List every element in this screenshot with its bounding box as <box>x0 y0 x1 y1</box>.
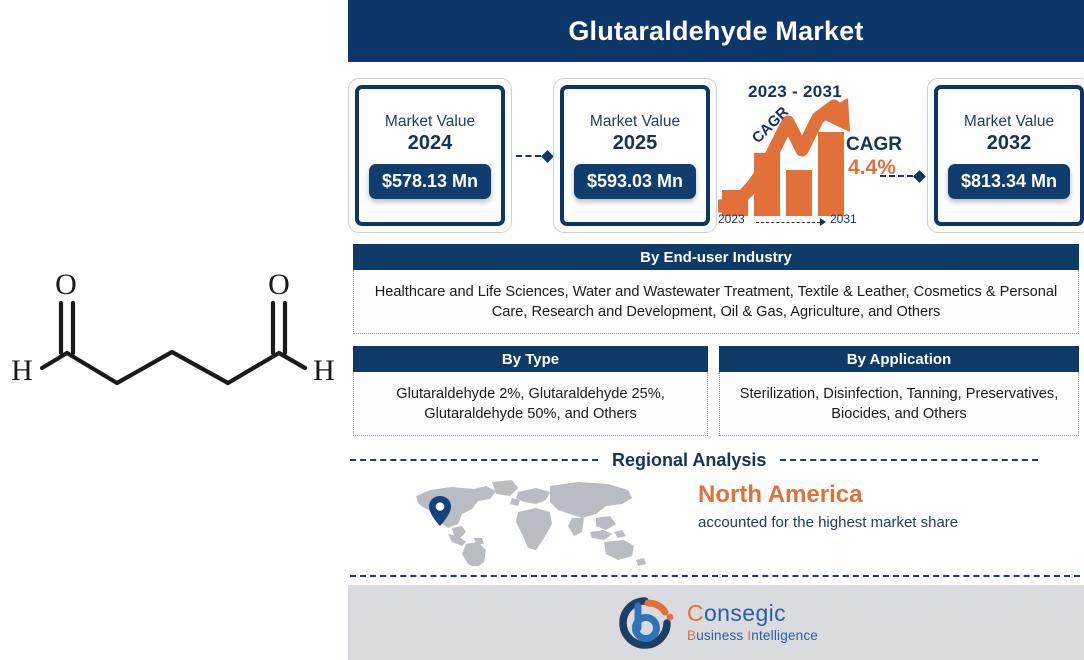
segment-end-user-industry: By End-user Industry Healthcare and Life… <box>353 244 1079 334</box>
consegic-logo-icon <box>614 595 676 651</box>
regional-analysis-header: Regional Analysis <box>348 448 1084 472</box>
divider-left <box>350 459 598 461</box>
cagr-word-label: CAGR <box>846 134 902 156</box>
leading-region-name: North America <box>698 480 1028 510</box>
kpi-year-2024: 2024 <box>408 131 453 155</box>
brand-name: Consegic <box>687 602 818 625</box>
molecule-pane: O O H H <box>0 0 348 660</box>
segment-title-by-application: By Application <box>719 346 1079 372</box>
kpi-card-2032: Market Value 2032 $813.34 Mn <box>927 78 1084 233</box>
cagr-axis-arrow-icon <box>756 218 826 226</box>
kpi-label-2032: Market Value <box>964 112 1054 131</box>
segment-by-type: By Type Glutaraldehyde 2%, Glutaraldehyd… <box>353 346 708 436</box>
infographic-page: O O H H Glutaraldehyde Market Market Val… <box>0 0 1084 660</box>
tagline-ntelligence: ntelligence <box>751 628 818 643</box>
segment-title-by-type: By Type <box>353 346 708 372</box>
tagline-b: B <box>687 628 696 643</box>
kpi-row: Market Value 2024 $578.13 Mn Market Valu… <box>348 78 1084 236</box>
kpi-value-2024: $578.13 Mn <box>369 164 491 199</box>
divider-right <box>780 459 1038 461</box>
segment-items-by-type: Glutaraldehyde 2%, Glutaraldehyde 25%, G… <box>353 372 708 436</box>
connector-cagr-2032 <box>880 170 924 182</box>
kpi-value-2025: $593.03 Mn <box>574 164 696 199</box>
kpi-value-2032: $813.34 Mn <box>948 164 1070 199</box>
brand-logo: Consegic Business Intelligence <box>614 595 818 651</box>
diamond-marker <box>913 170 926 183</box>
kpi-label-2025: Market Value <box>590 112 680 131</box>
connector-2024-2025 <box>516 150 552 162</box>
kpi-card-2024: Market Value 2024 $578.13 Mn <box>348 78 512 233</box>
world-map-icon <box>400 476 660 566</box>
content-panel: Glutaraldehyde Market Market Value 2024 … <box>348 0 1084 660</box>
segment-title-end-user: By End-user Industry <box>353 244 1079 270</box>
segment-items-end-user: Healthcare and Life Sciences, Water and … <box>353 270 1079 334</box>
atom-label-oxygen-left: O <box>55 268 77 301</box>
atom-label-hydrogen-left: H <box>11 354 33 387</box>
kpi-year-2025: 2025 <box>613 131 658 155</box>
atom-label-hydrogen-right: H <box>313 354 335 387</box>
page-title: Glutaraldehyde Market <box>568 16 863 47</box>
leading-region-description: accounted for the highest market share <box>698 512 1028 533</box>
kpi-label-2024: Market Value <box>385 112 475 131</box>
glutaraldehyde-structure-icon: O O H H <box>0 245 348 415</box>
brand-initial: C <box>687 600 704 626</box>
diamond-marker <box>541 150 554 163</box>
regional-analysis-text: North America accounted for the highest … <box>698 480 1028 533</box>
brand-name-rest: onsegic <box>704 600 786 626</box>
kpi-card-2025: Market Value 2025 $593.03 Mn <box>553 78 717 233</box>
kpi-year-2032: 2032 <box>987 131 1032 155</box>
cagr-axis-start: 2023 <box>718 212 745 226</box>
cagr-graphic: 2023 - 2031 CAGR CAGR 4.4% 2023 <box>718 76 933 234</box>
regional-analysis-title: Regional Analysis <box>598 450 780 471</box>
title-bar: Glutaraldehyde Market <box>348 0 1084 62</box>
divider-bottom <box>350 575 1080 577</box>
cagr-axis-end: 2031 <box>830 212 857 226</box>
tagline-usiness: usiness <box>696 628 747 643</box>
segment-items-by-application: Sterilization, Disinfection, Tanning, Pr… <box>719 372 1079 436</box>
footer-bar: Consegic Business Intelligence <box>348 585 1084 660</box>
atom-label-oxygen-right: O <box>268 268 290 301</box>
brand-tagline: Business Intelligence <box>687 629 818 643</box>
segment-by-application: By Application Sterilization, Disinfecti… <box>719 346 1079 436</box>
